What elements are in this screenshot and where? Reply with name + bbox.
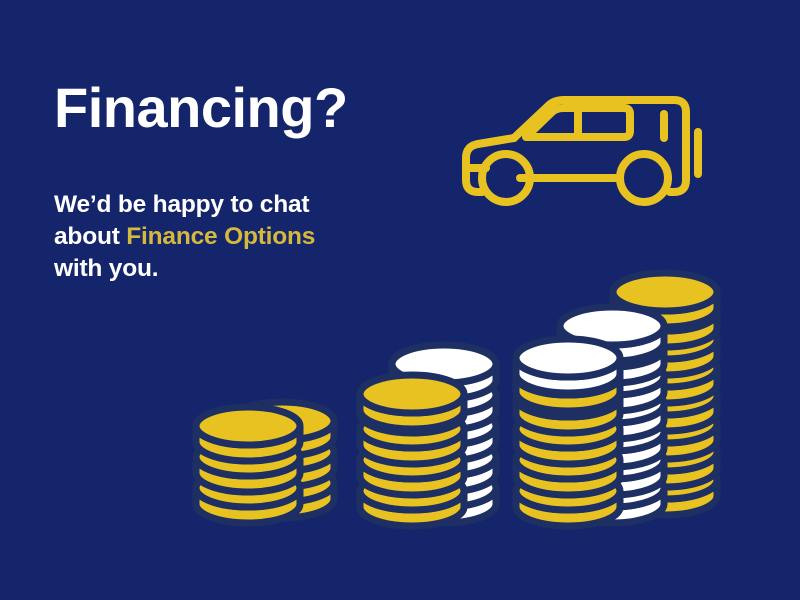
rear-wheel-icon bbox=[620, 154, 668, 202]
subhead-line-1: We’d be happy to chat bbox=[54, 191, 309, 218]
coin-group-medium bbox=[360, 345, 496, 526]
page-title: Financing? bbox=[54, 80, 348, 136]
coin-group-large bbox=[516, 273, 717, 526]
coin-group-small bbox=[196, 402, 334, 523]
suv-side-view-icon bbox=[448, 82, 714, 222]
subhead-line-2-prefix: about bbox=[54, 223, 126, 250]
coin-peek-white bbox=[516, 339, 620, 393]
slide-canvas: Financing? We’d be happy to chat about F… bbox=[0, 0, 800, 600]
coin-substack-front-yellow bbox=[360, 375, 464, 526]
coin-substack-front-yellow bbox=[196, 407, 300, 523]
coin-stacks-illustration bbox=[0, 260, 800, 540]
finance-options-highlight: Finance Options bbox=[126, 223, 315, 250]
